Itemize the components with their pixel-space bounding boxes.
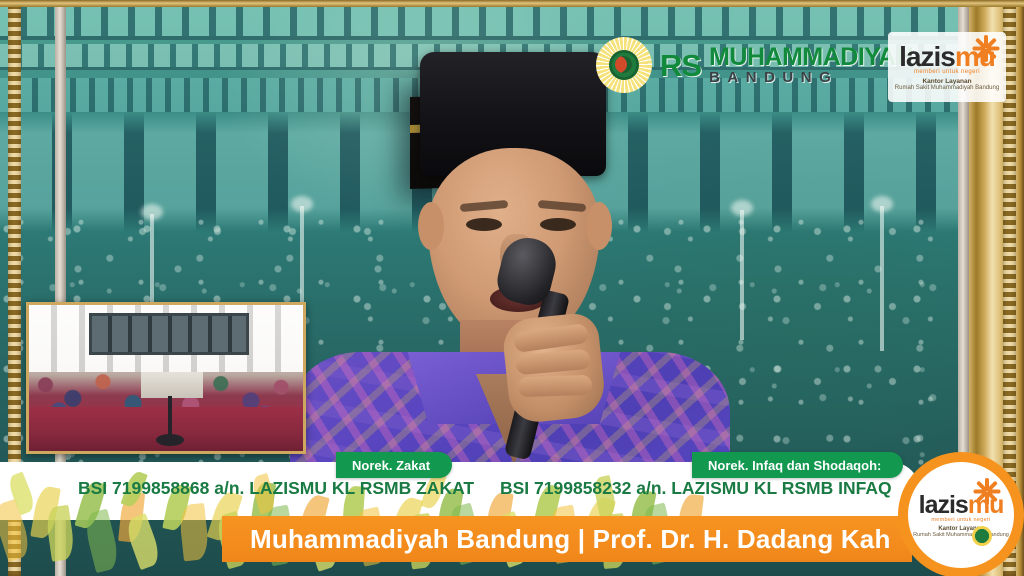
muhammadiyah-sun-icon <box>596 37 652 93</box>
lazismu-corner-badge: lazismu memberi untuk negeri Kantor Laya… <box>898 452 1024 576</box>
speaker-ear-left <box>418 202 444 250</box>
lazismu-office-name: Rumah Sakit Muhammadiyah Bandung <box>895 85 999 91</box>
rs-abbrev-text: RS <box>660 50 701 81</box>
lazismu-word-lazis: lazis <box>899 41 955 72</box>
program-title: Muhammadiyah Bandung | Prof. Dr. H. Dada… <box>250 524 891 555</box>
lazismu-tagline: memberi untuk negeri <box>931 517 990 523</box>
lazismu-word-lazis: lazis <box>919 491 968 519</box>
infaq-account-number: BSI 7199858232 a/n. LAZISMU KL RSMB INFA… <box>500 478 892 499</box>
speaker-eye-left <box>466 218 502 231</box>
pip-steps <box>141 372 203 398</box>
lazismu-logo-top: lazismu memberi untuk negeri Kantor Laya… <box>888 32 1006 102</box>
rs-muhammadiyah-logo: RS MUHAMMADIYAH BANDUNG <box>596 34 896 96</box>
lazismu-office-label: Kantor Layanan <box>922 78 971 85</box>
speaker-eye-right <box>540 218 576 231</box>
lazismu-star-icon <box>973 35 999 61</box>
lazismu-star-icon <box>974 478 1000 504</box>
lazismu-office-name: Rumah Sakit Muhammadiyah Bandung <box>913 532 1009 538</box>
zakat-account-number: BSI 7199858868 a/n. LAZISMU KL RSMB ZAKA… <box>78 478 474 499</box>
rs-muhammadiyah-text: MUHAMMADIYAH <box>709 45 913 70</box>
pip-mic-stand <box>168 396 172 440</box>
painting-light-pole <box>880 206 884 351</box>
picture-in-picture-audience[interactable] <box>26 302 306 454</box>
broadcast-stage: RS MUHAMMADIYAH BANDUNG lazismu memberi … <box>0 0 1024 576</box>
norek-infaq-pill: Norek. Infaq dan Shodaqoh: <box>692 452 903 478</box>
pip-windows <box>89 313 249 355</box>
speaker-figure <box>300 52 720 472</box>
muhammadiyah-sun-icon <box>972 526 992 546</box>
title-bar: Muhammadiyah Bandung | Prof. Dr. H. Dada… <box>222 516 912 562</box>
painting-light-pole <box>740 210 744 340</box>
lazismu-badge-content: lazismu memberi untuk negeri Kantor Laya… <box>908 462 1014 568</box>
lazismu-tagline: memberi untuk negeri <box>914 69 980 75</box>
speaker-finger <box>518 375 593 398</box>
rs-bandung-text: BANDUNG <box>709 70 913 85</box>
crescent-icon <box>615 56 632 73</box>
speaker-ear-right <box>586 202 612 250</box>
picture-frame-top <box>0 0 1024 7</box>
norek-zakat-pill: Norek. Zakat <box>336 452 452 478</box>
